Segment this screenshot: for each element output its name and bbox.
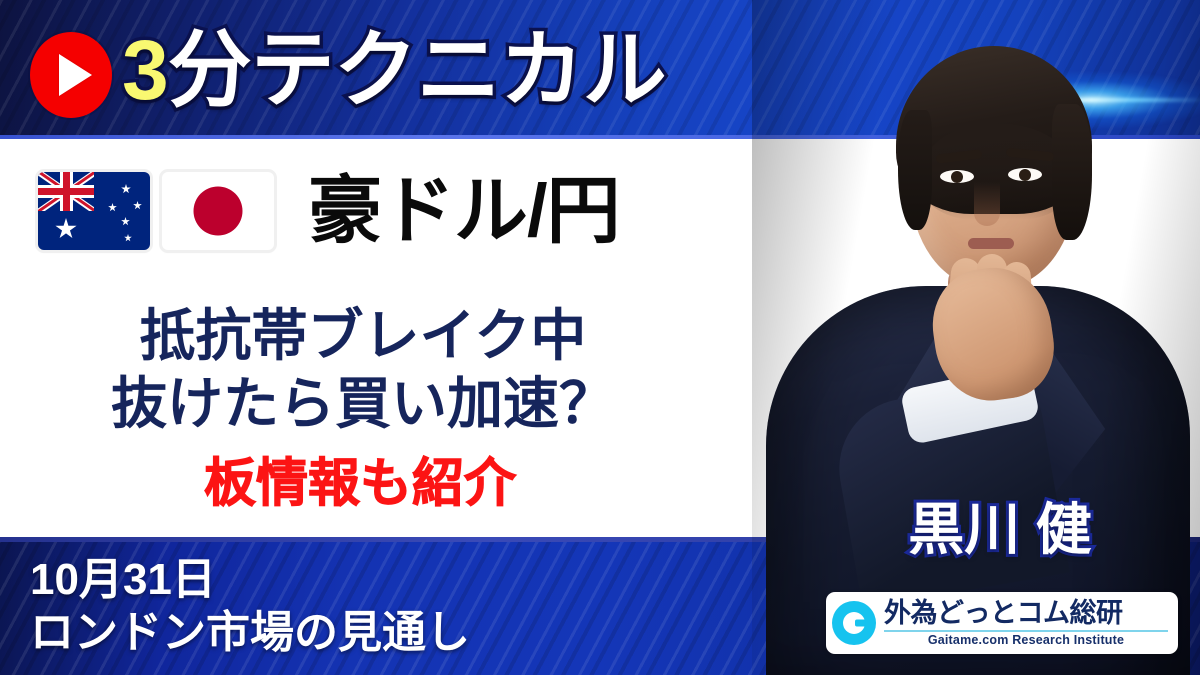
australia-flag-icon [38,172,150,250]
currency-pair-label: 豪ドル/円 [308,172,620,250]
southern-cross-star-icon [108,203,117,212]
union-jack-canton [38,172,94,211]
logo-text: 外為どっとコム総研 Gaitame.com Research Institute [884,599,1168,647]
show-title: 3分テクニカル [122,10,666,130]
presenter-photo [752,0,1200,675]
hinomaru-disc [194,187,243,236]
japan-flag-icon [162,172,274,250]
southern-cross-star-icon [124,234,132,242]
currency-pair-row: 豪ドル/円 [38,172,620,250]
show-title-text: 分テクニカル [168,23,666,117]
play-button-icon [28,32,114,118]
commonwealth-star-icon [55,218,77,240]
show-title-number: 3 [122,23,168,117]
thumbnail-canvas: 3分テクニカル 豪ドル/円 [0,0,1200,675]
southern-cross-star-icon [133,201,142,210]
southern-cross-star-icon [121,184,131,194]
play-triangle [59,54,92,96]
presenter-name: 黒川 健 [850,498,1150,562]
hair-side-left [898,110,932,230]
mouth [968,238,1014,249]
eye-left [940,170,974,183]
broadcast-info: 10月31日 ロンドン市場の見通し [30,555,470,659]
logo-name-jp: 外為どっとコム総研 [884,599,1168,628]
gaitame-research-logo: 外為どっとコム総研 Gaitame.com Research Institute [826,592,1178,654]
nose [974,182,1000,226]
broadcast-date: 10月31日 [30,555,470,605]
logo-divider [884,630,1168,632]
gaitame-g-icon [832,601,876,645]
southern-cross-star-icon [121,217,130,226]
broadcast-session: ロンドン市場の見通し [30,607,470,659]
headline-line-2: 抜けたら買い加速？ [6,373,720,435]
hair-side-right [1052,104,1092,240]
headline-line-1: 抵抗帯ブレイク中 [140,304,587,367]
presenter-figure [752,0,1200,675]
logo-name-en: Gaitame.com Research Institute [884,633,1168,647]
play-circle [30,32,112,118]
eye-right [1008,168,1042,181]
